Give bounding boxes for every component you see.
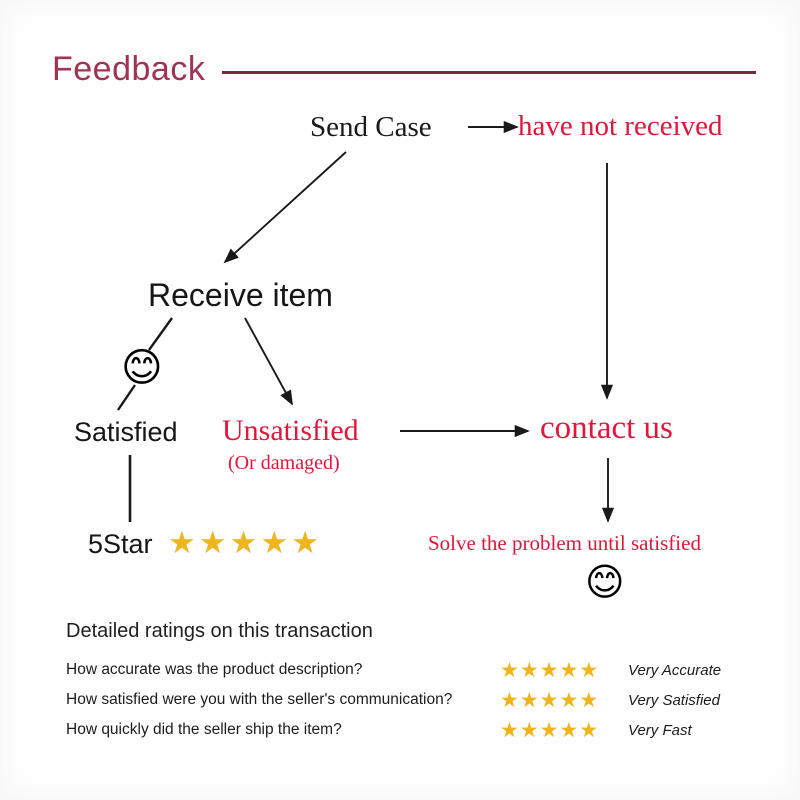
rating-label: Very Fast: [628, 722, 692, 739]
star-icon: ★: [579, 720, 598, 741]
rating-stars: ★★★★★: [500, 690, 628, 711]
star-icon: ★: [540, 720, 559, 741]
arrow-receiveitem-to-unsatisfied: [245, 318, 292, 404]
node-solve-problem: Solve the problem until satisfied: [428, 531, 701, 556]
star-icon: ★: [500, 660, 519, 681]
star-icon: ★: [230, 528, 258, 559]
five-star-rating: ★★★★★: [168, 528, 319, 559]
star-icon: ★: [559, 690, 578, 711]
smiling-face-emoji-solve: 😊: [585, 563, 625, 601]
rating-row: How accurate was the product description…: [66, 655, 721, 685]
star-icon: ★: [291, 528, 319, 559]
rating-question: How accurate was the product description…: [66, 661, 500, 679]
rating-question: How satisfied were you with the seller's…: [66, 691, 500, 709]
node-have-not-received: have not received: [518, 110, 723, 143]
star-icon: ★: [579, 660, 598, 681]
feedback-infographic: Feedback Send Case have not received Rec…: [0, 0, 800, 800]
star-icon: ★: [500, 720, 519, 741]
rating-rows-container: How accurate was the product description…: [66, 655, 721, 745]
five-star-label: 5Star: [88, 529, 153, 560]
node-receive-item: Receive item: [148, 277, 333, 314]
node-contact-us: contact us: [540, 410, 673, 447]
star-icon: ★: [579, 690, 598, 711]
node-or-damaged: (Or damaged): [228, 452, 340, 475]
rating-stars: ★★★★★: [500, 720, 628, 741]
star-icon: ★: [520, 720, 539, 741]
arrow-sendcase-to-receiveitem: [225, 152, 346, 262]
node-satisfied: Satisfied: [74, 417, 178, 448]
star-icon: ★: [559, 720, 578, 741]
star-icon: ★: [520, 660, 539, 681]
star-icon: ★: [500, 690, 519, 711]
star-icon: ★: [520, 690, 539, 711]
node-unsatisfied: Unsatisfied: [222, 414, 359, 448]
rating-stars: ★★★★★: [500, 660, 628, 681]
star-icon: ★: [559, 660, 578, 681]
star-icon: ★: [260, 528, 288, 559]
smiling-face-emoji: 😊: [121, 348, 163, 388]
rating-row: How quickly did the seller ship the item…: [66, 715, 721, 745]
detailed-ratings-heading: Detailed ratings on this transaction: [66, 620, 721, 643]
star-icon: ★: [168, 528, 196, 559]
page-title: Feedback: [52, 50, 205, 89]
rating-question: How quickly did the seller ship the item…: [66, 721, 500, 739]
rating-row: How satisfied were you with the seller's…: [66, 685, 721, 715]
detailed-ratings-section: Detailed ratings on this transaction How…: [66, 620, 721, 745]
star-icon: ★: [199, 528, 227, 559]
title-divider-rule: [222, 71, 756, 74]
star-icon: ★: [540, 690, 559, 711]
rating-label: Very Accurate: [628, 662, 721, 679]
rating-label: Very Satisfied: [628, 692, 720, 709]
node-send-case: Send Case: [310, 111, 432, 144]
star-icon: ★: [540, 660, 559, 681]
